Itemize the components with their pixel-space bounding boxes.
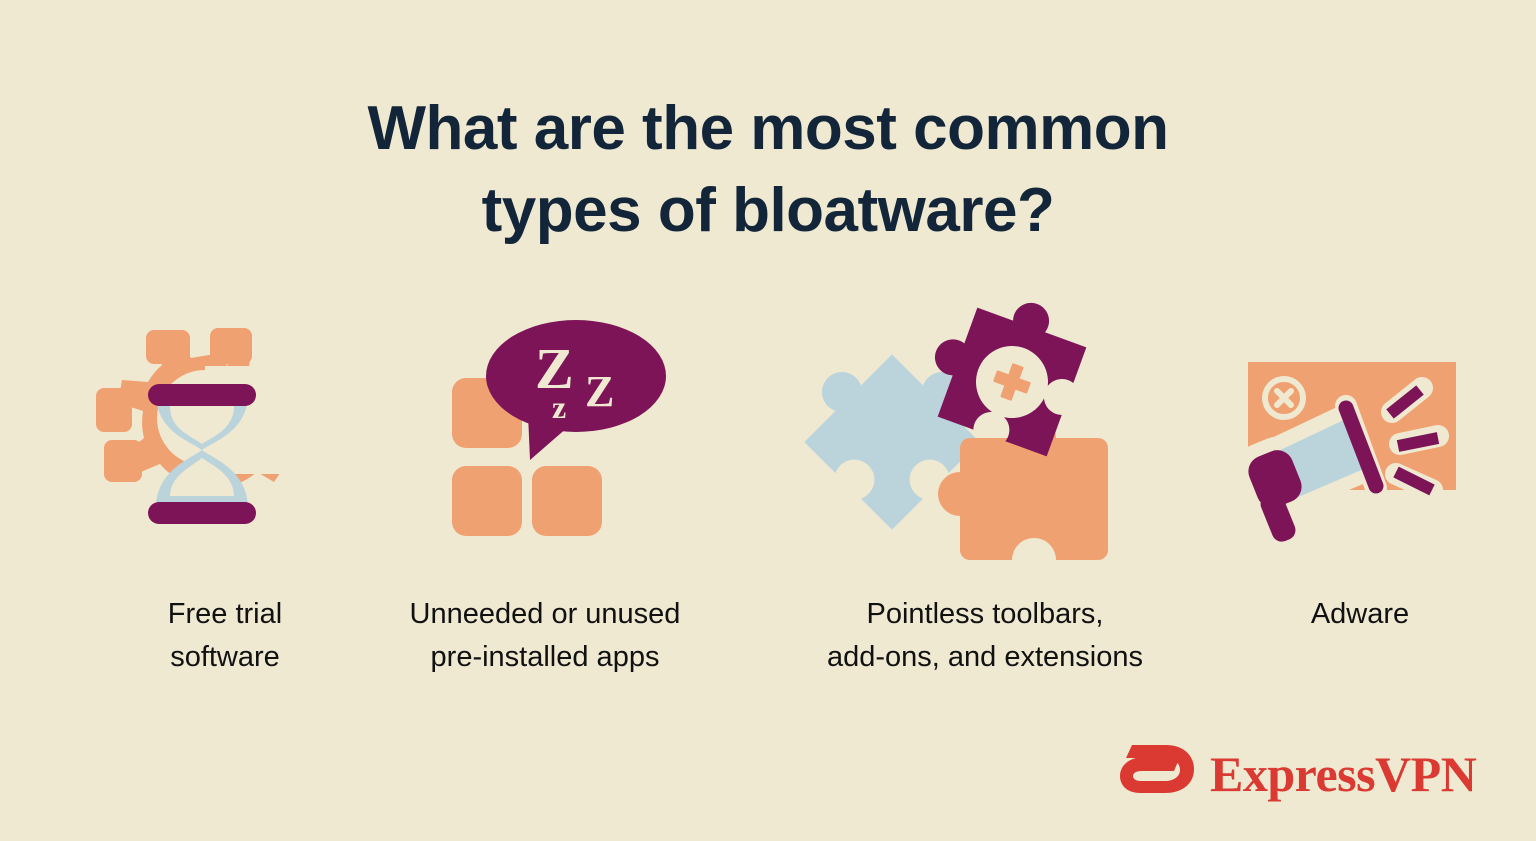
label-line-2: software	[170, 641, 280, 673]
expressvpn-wordmark: ExpressVPN	[1210, 749, 1476, 799]
bloatware-item-label: Pointless toolbars, add-ons, and extensi…	[760, 593, 1210, 679]
bloatware-types-row: Free trial software	[0, 310, 1536, 710]
gear-hourglass-icon	[60, 310, 390, 560]
label-line-1: Unneeded or unused	[410, 598, 681, 630]
puzzle-pieces-icon	[760, 310, 1210, 560]
bloatware-item-label: Free trial software	[60, 593, 390, 679]
sleeping-apps-icon: Z Z z	[380, 310, 710, 560]
z-small: z	[552, 389, 566, 425]
adware-megaphone-icon	[1200, 310, 1520, 560]
bloatware-item-label: Unneeded or unused pre-installed apps	[380, 593, 710, 679]
bloatware-item-adware: Adware	[1200, 310, 1520, 710]
title-line-2: types of bloatware?	[0, 170, 1536, 252]
bloatware-item-label: Adware	[1200, 593, 1520, 636]
label-line-2: add-ons, and extensions	[827, 641, 1143, 673]
label-line-1: Free trial	[168, 598, 282, 630]
z-medium: Z	[585, 367, 614, 416]
title-line-1: What are the most common	[0, 88, 1536, 170]
page-title: What are the most common types of bloatw…	[0, 88, 1536, 252]
label-line-1: Pointless toolbars,	[867, 598, 1104, 630]
expressvpn-logo-mark	[1118, 739, 1194, 809]
bloatware-item-free-trial: Free trial software	[60, 310, 390, 710]
bloatware-item-toolbars: Pointless toolbars, add-ons, and extensi…	[760, 310, 1210, 710]
expressvpn-logo: ExpressVPN	[1118, 736, 1458, 812]
infographic-canvas: What are the most common types of bloatw…	[0, 0, 1536, 841]
label-line-1: Adware	[1311, 598, 1409, 630]
bloatware-item-preinstalled-apps: Z Z z Unneeded or unused pre-installed a…	[380, 310, 710, 710]
label-line-2: pre-installed apps	[431, 641, 660, 673]
